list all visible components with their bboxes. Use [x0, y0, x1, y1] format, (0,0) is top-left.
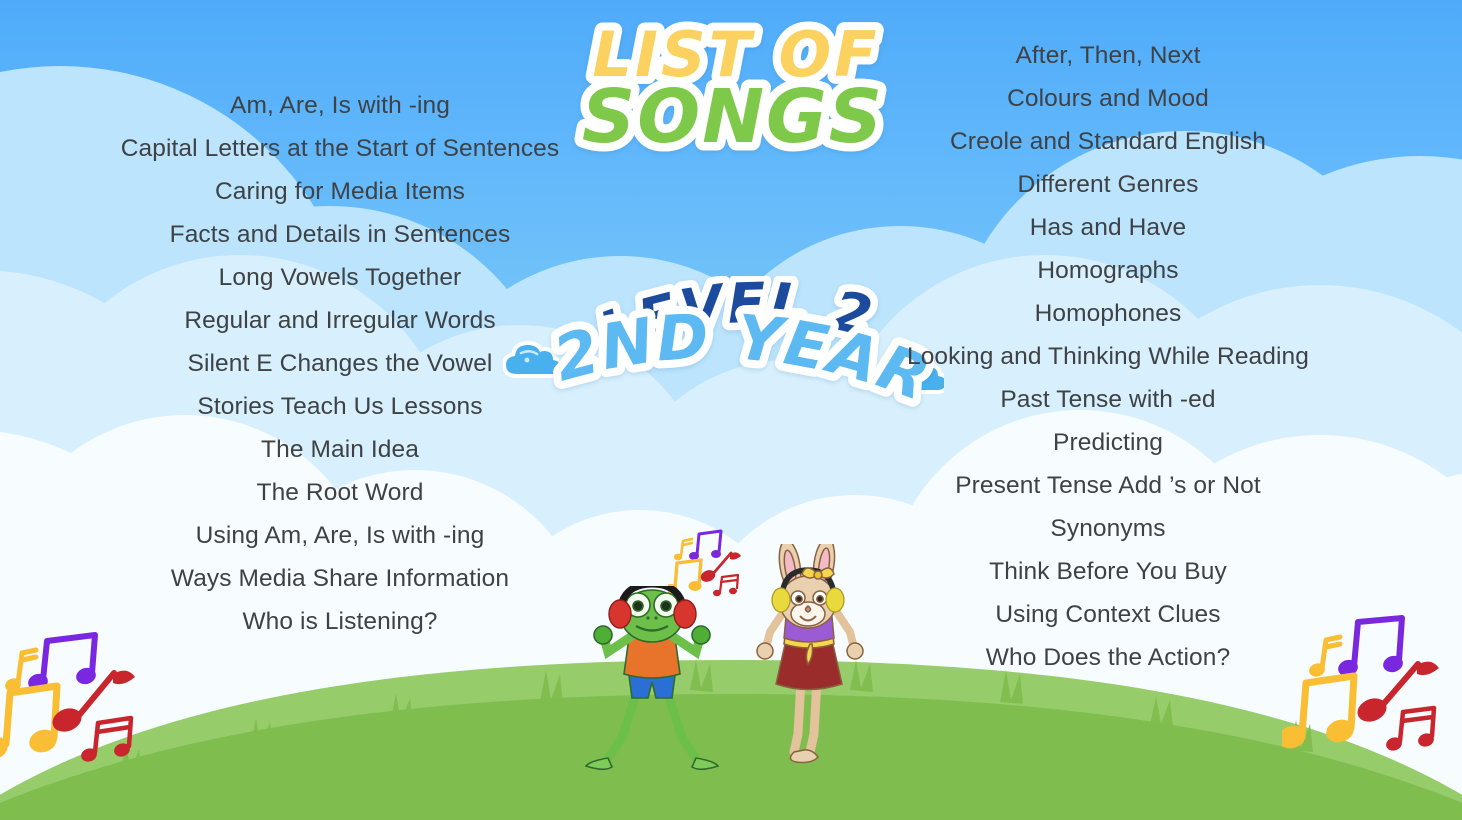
list-item[interactable]: Ways Media Share Information	[60, 557, 620, 600]
list-item[interactable]: Homophones	[830, 292, 1386, 335]
music-notes-icon-left	[0, 608, 171, 773]
dancing-rabbit-character	[744, 544, 874, 772]
list-item[interactable]: Stories Teach Us Lessons	[60, 385, 620, 428]
list-item[interactable]: Long Vowels Together	[60, 256, 620, 299]
list-item[interactable]: Colours and Mood	[830, 77, 1386, 120]
dancing-frog-character	[578, 586, 728, 771]
list-item[interactable]: Am, Are, Is with -ing	[60, 84, 620, 127]
list-item[interactable]: Silent E Changes the Vowel	[60, 342, 620, 385]
list-item[interactable]: Caring for Media Items	[60, 170, 620, 213]
list-item[interactable]: Homographs	[830, 249, 1386, 292]
list-item[interactable]: Predicting	[830, 421, 1386, 464]
list-item[interactable]: The Main Idea	[60, 428, 620, 471]
list-item[interactable]: Present Tense Add ’s or Not	[830, 464, 1386, 507]
list-item[interactable]: Regular and Irregular Words	[60, 299, 620, 342]
list-item[interactable]: Facts and Details in Sentences	[60, 213, 620, 256]
song-list-right: After, Then, Next Colours and Mood Creol…	[830, 34, 1386, 679]
list-item[interactable]: The Root Word	[60, 471, 620, 514]
list-item[interactable]: Think Before You Buy	[830, 550, 1386, 593]
list-item[interactable]: Creole and Standard English	[830, 120, 1386, 163]
list-item[interactable]: Capital Letters at the Start of Sentence…	[60, 127, 620, 170]
list-item[interactable]: Looking and Thinking While Reading	[830, 335, 1386, 378]
list-item[interactable]: Past Tense with -ed	[830, 378, 1386, 421]
list-item[interactable]: After, Then, Next	[830, 34, 1386, 77]
list-item[interactable]: Has and Have	[830, 206, 1386, 249]
music-notes-icon-right	[1282, 604, 1457, 774]
song-list-left: Am, Are, Is with -ing Capital Letters at…	[60, 84, 620, 643]
list-item[interactable]: Different Genres	[830, 163, 1386, 206]
slide-canvas: LIST OF LIST OF SONGS SONGS LEVEL 2	[0, 0, 1462, 820]
list-item[interactable]: Using Am, Are, Is with -ing	[60, 514, 620, 557]
list-item[interactable]: Synonyms	[830, 507, 1386, 550]
